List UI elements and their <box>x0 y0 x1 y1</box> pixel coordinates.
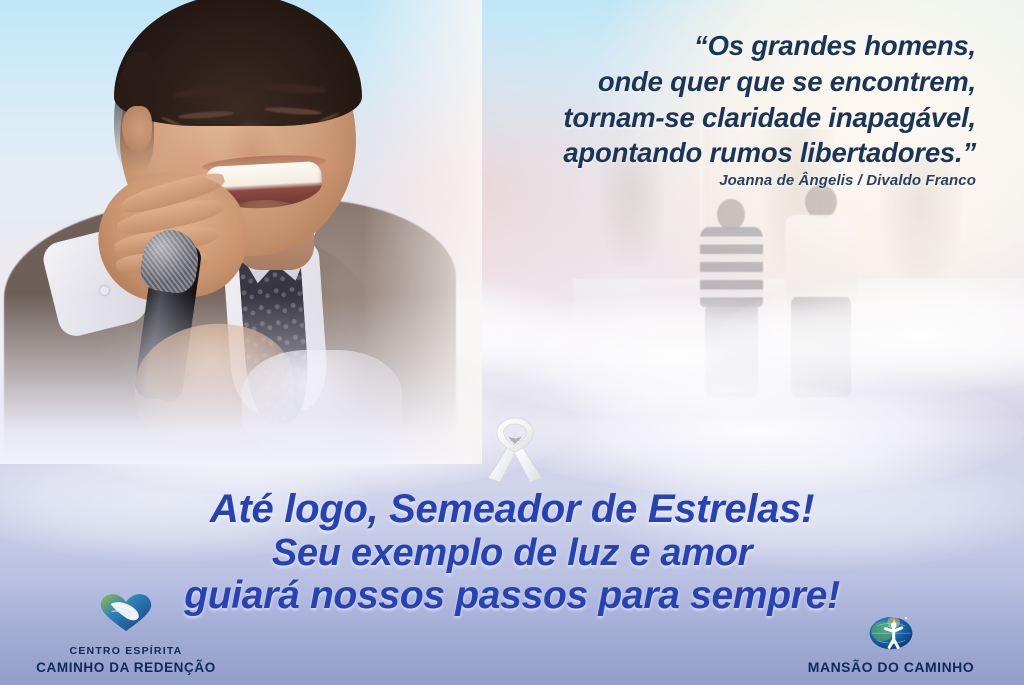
quote-line-1: “Os grandes homens, <box>436 28 976 64</box>
quote-line-2: onde quer que se encontrem, <box>436 64 976 100</box>
headline-line-1: Até logo, Semeador de Estrelas! <box>0 487 1024 532</box>
portrait-photo <box>0 0 472 454</box>
globe-with-figure-icon <box>766 610 1016 656</box>
white-ribbon-icon <box>474 408 556 490</box>
logo-right-line-1: MANSÃO DO CAMINHO <box>808 659 974 675</box>
headline-line-2: Seu exemplo de luz e amor <box>0 532 1024 575</box>
quote-line-3: tornam-se claridade inapagável, <box>436 100 976 136</box>
quote-attribution: Joanna de Ângelis / Divaldo Franco <box>436 172 976 189</box>
heart-with-hands-icon <box>6 593 246 638</box>
logo-left-line-2: CAMINHO DA REDENÇÃO <box>36 660 216 675</box>
quote-text: “Os grandes homens, onde quer que se enc… <box>436 28 976 171</box>
memorial-poster: “Os grandes homens, onde quer que se enc… <box>0 0 1024 685</box>
logo-left-line-1: CENTRO ESPÍRITA <box>70 645 183 657</box>
logo-mansao-do-caminho: MANSÃO DO CAMINHO <box>766 610 1016 677</box>
logo-centro-espirita: CENTRO ESPÍRITA CAMINHO DA REDENÇÃO <box>6 593 246 677</box>
walking-person-icon <box>700 227 763 394</box>
quote-line-4: apontando rumos libertadores.” <box>436 135 976 171</box>
walking-person-icon <box>785 215 857 393</box>
